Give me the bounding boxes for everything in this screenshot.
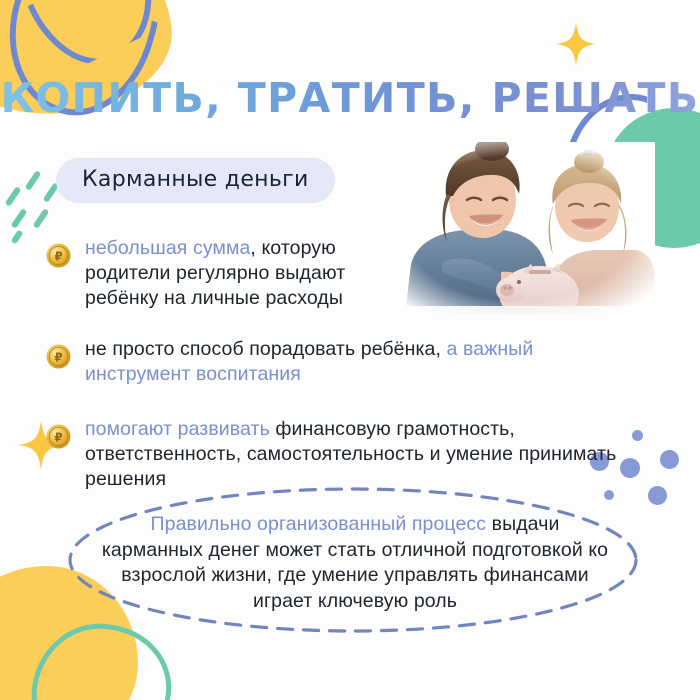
conclusion-text: Правильно организованный процесс выдачи … [100,512,610,614]
ruble-coin-icon: ₽ [46,424,71,449]
svg-text:₽: ₽ [54,350,62,364]
highlight-text: помогают развивать [85,418,270,440]
page-title: КОПИТЬ, ТРАТИТЬ, РЕШАТЬ [0,74,700,122]
svg-text:₽: ₽ [54,249,62,263]
body-text: не просто способ порадовать ребёнка, [85,338,447,360]
conclusion-callout: Правильно организованный процесс выдачи … [66,486,640,634]
bullet-list: ₽ небольшая сумма, которую родители регу… [46,236,646,510]
list-item: ₽ не просто способ порадовать ребёнка, а… [46,337,646,387]
ruble-coin-icon: ₽ [46,243,71,268]
svg-text:₽: ₽ [54,430,62,444]
highlight-text: Правильно организованный процесс [151,513,487,535]
list-item-text: не просто способ порадовать ребёнка, а в… [85,337,630,387]
ruble-coin-icon: ₽ [46,344,71,369]
blue-curve-top-left-secondary [0,0,177,85]
sparkle-icon [556,22,596,71]
status-badge: Карманные деньги [56,158,335,203]
list-item: ₽ помогают развивать финансовую грамотно… [46,417,646,492]
list-item-text: помогают развивать финансовую грамотност… [85,417,630,492]
highlight-text: небольшая сумма [85,237,250,259]
list-item-text: небольшая сумма, которую родители регуля… [85,236,415,311]
list-item: ₽ небольшая сумма, которую родители регу… [46,236,646,311]
infographic-poster: КОПИТЬ, ТРАТИТЬ, РЕШАТЬ Карманные деньги [0,0,700,700]
